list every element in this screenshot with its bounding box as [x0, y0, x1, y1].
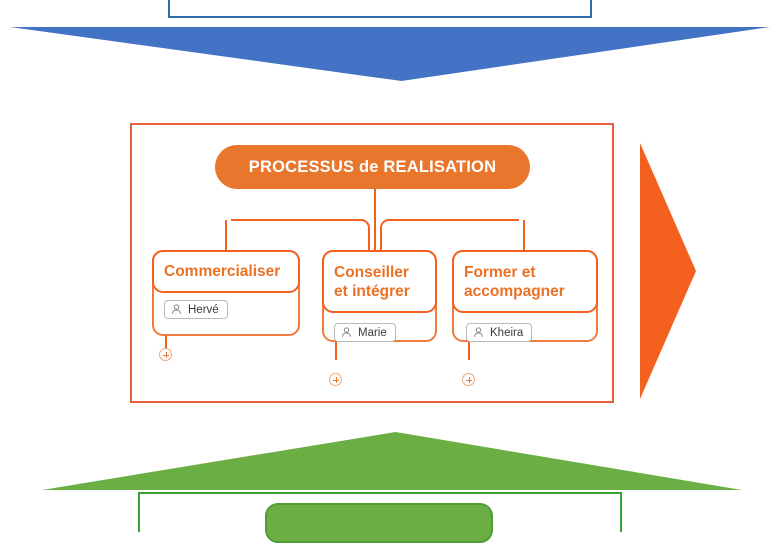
person-badge[interactable]: Marie	[334, 323, 396, 342]
process-node-commercialiser[interactable]: Commercialiser	[152, 250, 300, 336]
arrow-up-icon	[42, 432, 742, 490]
arrow-right-icon	[640, 143, 696, 399]
user-icon	[170, 303, 183, 316]
person-name: Marie	[358, 327, 387, 339]
user-icon	[472, 326, 485, 339]
blue-process-panel	[168, 0, 592, 18]
process-node-title: Former et accompagner	[452, 250, 598, 313]
person-name: Kheira	[490, 327, 523, 339]
user-icon	[340, 326, 353, 339]
diagram-canvas: PROCESSUS de REALISATION Commercialiser …	[0, 0, 780, 516]
process-node-title: Conseiller et intégrer	[322, 250, 437, 313]
arrow-down-icon	[10, 27, 770, 81]
green-process-title-pill	[265, 503, 493, 543]
process-title-pill: PROCESSUS de REALISATION	[215, 145, 530, 189]
person-badge[interactable]: Hervé	[164, 300, 228, 319]
add-icon[interactable]	[462, 373, 475, 386]
process-node-title: Commercialiser	[152, 250, 300, 293]
add-icon[interactable]	[329, 373, 342, 386]
person-name: Hervé	[188, 304, 219, 316]
connector-stub	[468, 342, 470, 360]
add-icon[interactable]	[159, 348, 172, 361]
page-title: PROCESSUS de REALISATION	[249, 158, 496, 177]
connector-stub	[335, 342, 337, 360]
person-badge[interactable]: Kheira	[466, 323, 532, 342]
